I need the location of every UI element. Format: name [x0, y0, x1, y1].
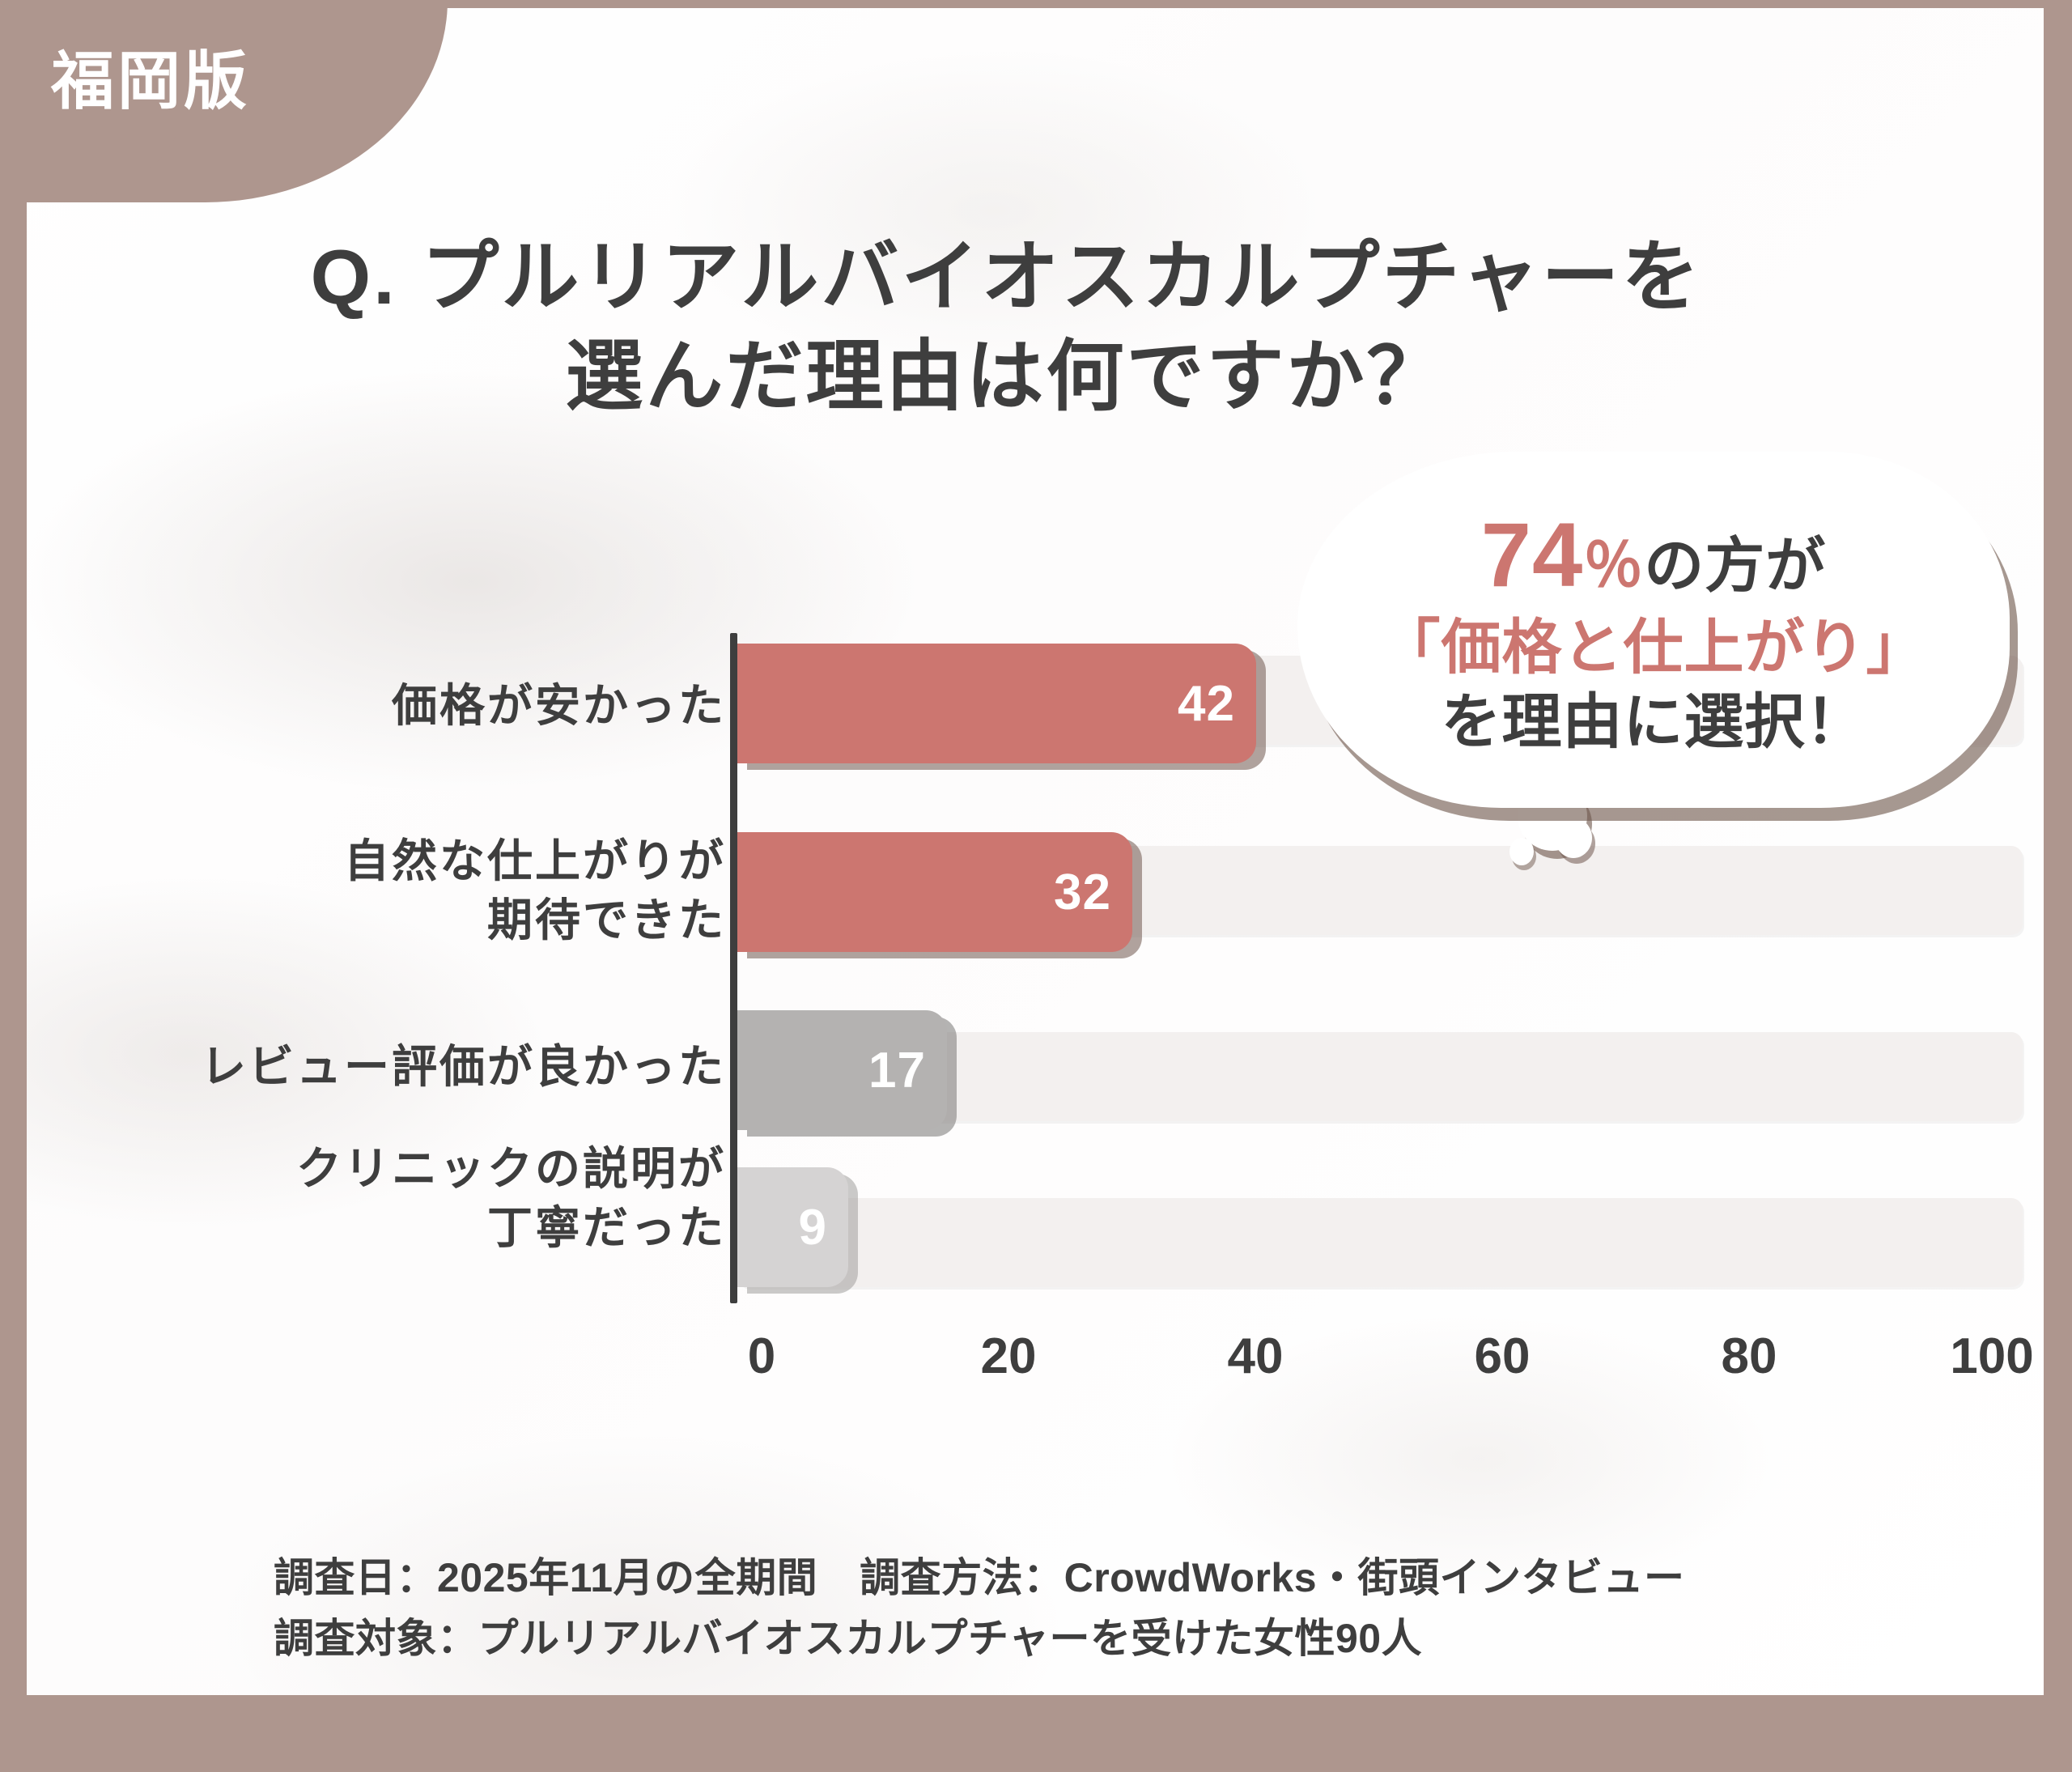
bar-value-bar: 42 — [737, 644, 1256, 763]
survey-target: 調査対象：プルリアルバイオスカルプチャーを受けた女性90人 — [274, 1616, 1422, 1661]
callout-line-1-suffix: の方が — [1644, 532, 1826, 599]
bar-chart: 価格が安かった 42 自然な仕上がりが 期待できた 32 レビュー評価が良かった — [27, 8, 2044, 1695]
x-axis-tick-label: 60 — [1437, 1328, 1567, 1385]
callout-line-2: 「価格と仕上がり」 — [1381, 613, 1927, 682]
survey-date: 調査日：2025年11月の全期間 — [274, 1555, 817, 1600]
x-axis-tick-label: 0 — [697, 1328, 826, 1385]
infographic-canvas: 福岡版 Q. プルリアルバイオスカルプチャーを 選んだ理由は何ですか？ 価格が安… — [27, 8, 2044, 1695]
callout-dot-small — [1509, 838, 1534, 865]
x-axis-tick-label: 20 — [944, 1328, 1073, 1385]
bar-category-label: 価格が安かった — [392, 677, 726, 736]
x-axis-tick-label: 100 — [1927, 1328, 2044, 1385]
bar-value-label: 17 — [868, 1042, 947, 1099]
bar-value-bar: 32 — [737, 832, 1132, 952]
survey-footer-line-2: 調査対象：プルリアルバイオスカルプチャーを受けた女性90人 — [274, 1608, 1685, 1669]
bar-track — [737, 1198, 2023, 1287]
bar-category-label: クリニックの説明が 丁寧だった — [296, 1140, 726, 1258]
bar-category-label: 自然な仕上がりが 期待できた — [344, 832, 726, 950]
bar-value-label: 9 — [799, 1199, 848, 1256]
x-axis-tick-label: 40 — [1191, 1328, 1320, 1385]
bar-value-bar: 17 — [737, 1010, 947, 1130]
bar-category-label: レビュー評価が良かった — [201, 1038, 726, 1097]
survey-footer: 調査日：2025年11月の全期間調査方法：CrowdWorks・街頭インタビュー… — [274, 1548, 1685, 1669]
survey-method: 調査方法：CrowdWorks・街頭インタビュー — [860, 1555, 1684, 1600]
x-axis-tick-label: 80 — [1684, 1328, 1814, 1385]
callout-dot-large — [1555, 818, 1592, 858]
callout-percent-symbol: ％ — [1583, 532, 1644, 599]
bar-value-label: 42 — [1178, 675, 1256, 733]
callout-line-3: を理由に選択！ — [1441, 687, 1866, 757]
region-badge-label: 福岡版 — [51, 31, 250, 121]
callout-line-1: 74％の方が — [1481, 503, 1827, 608]
bar-value-label: 32 — [1054, 864, 1132, 921]
callout-bubble: 74％の方が 「価格と仕上がり」 を理由に選択！ — [1297, 452, 2010, 808]
bar-value-bar: 9 — [737, 1167, 848, 1287]
survey-footer-line-1: 調査日：2025年11月の全期間調査方法：CrowdWorks・街頭インタビュー — [274, 1548, 1685, 1608]
callout-percent-value: 74 — [1481, 504, 1584, 606]
infographic-page: 福岡版 Q. プルリアルバイオスカルプチャーを 選んだ理由は何ですか？ 価格が安… — [0, 0, 2072, 1772]
chart-y-axis-line — [730, 633, 737, 1303]
